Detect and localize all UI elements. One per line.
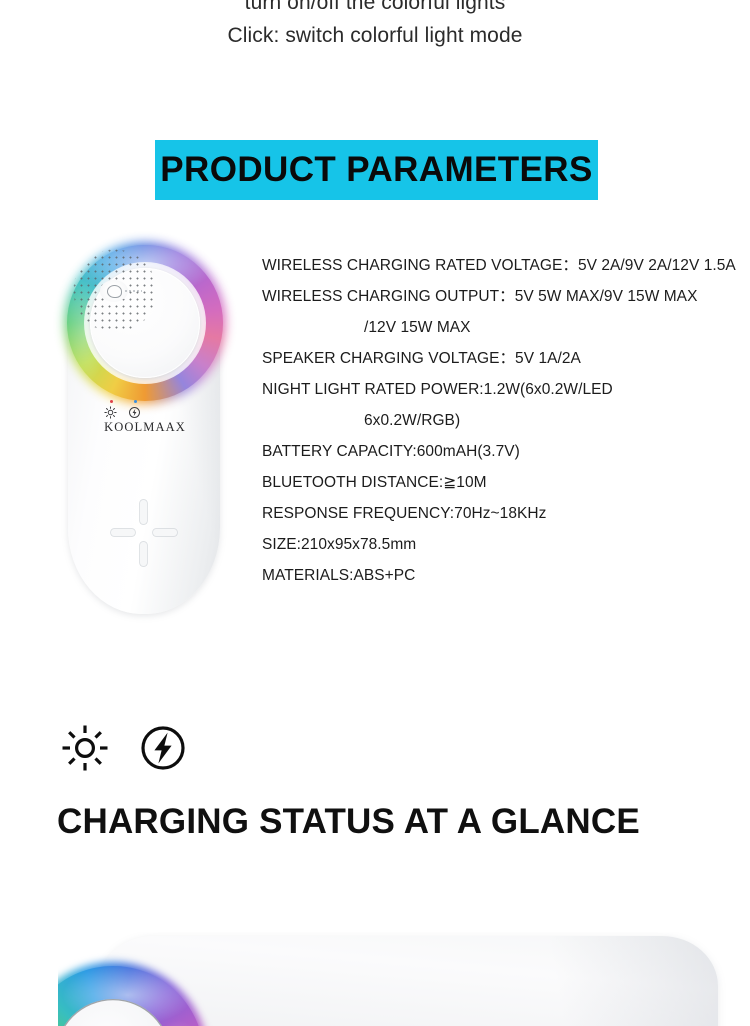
spec-line: MATERIALS:ABS+PC <box>262 560 742 591</box>
charging-status-heading: CHARGING STATUS AT A GLANCE <box>57 802 640 842</box>
spec-line: WIRELESS CHARGING OUTPUT：5V 5W MAX/9V 15… <box>262 281 742 312</box>
product-image-front-view: KOOLMAAX <box>60 236 230 614</box>
spec-line: /12V 15W MAX <box>262 312 742 343</box>
speaker-hub-logo-icon <box>107 285 122 298</box>
intro-line-lights: turn on/off the colorful lights <box>0 0 750 15</box>
product-image-side-view <box>58 932 750 1026</box>
wireless-charging-alignment-mark <box>111 500 177 566</box>
speaker-hub-dots <box>124 289 142 293</box>
intro-line-click-mode: Click: switch colorful light mode <box>0 24 750 48</box>
spec-line: NIGHT LIGHT RATED POWER:1.2W(6x0.2W/LED <box>262 374 742 405</box>
brightness-sun-icon <box>61 724 109 772</box>
spec-line: WIRELESS CHARGING RATED VOLTAGE：5V 2A/9V… <box>262 250 742 281</box>
spec-line: SPEAKER CHARGING VOLTAGE：5V 1A/2A <box>262 343 742 374</box>
product-parameters-banner: PRODUCT PARAMETERS <box>155 140 598 200</box>
specification-list: WIRELESS CHARGING RATED VOLTAGE：5V 2A/9V… <box>262 250 742 591</box>
spec-line: RESPONSE FREQUENCY:70Hz~18KHz <box>262 498 742 529</box>
brand-logo: KOOLMAAX <box>60 420 230 435</box>
spec-line: BLUETOOTH DISTANCE:≧10M <box>262 467 742 498</box>
power-led-indicator <box>134 400 137 403</box>
product-detail-page: turn on/off the colorful lights Click: s… <box>0 0 750 1026</box>
light-icon <box>104 406 117 419</box>
spec-line: BATTERY CAPACITY:600mAH(3.7V) <box>262 436 742 467</box>
lightning-bolt-circle-icon <box>139 724 187 772</box>
spec-line: 6x0.2W/RGB) <box>262 405 742 436</box>
banner-title: PRODUCT PARAMETERS <box>155 140 598 200</box>
charging-led-indicator <box>110 400 113 403</box>
power-icon <box>128 406 141 419</box>
spec-line: SIZE:210x95x78.5mm <box>262 529 742 560</box>
